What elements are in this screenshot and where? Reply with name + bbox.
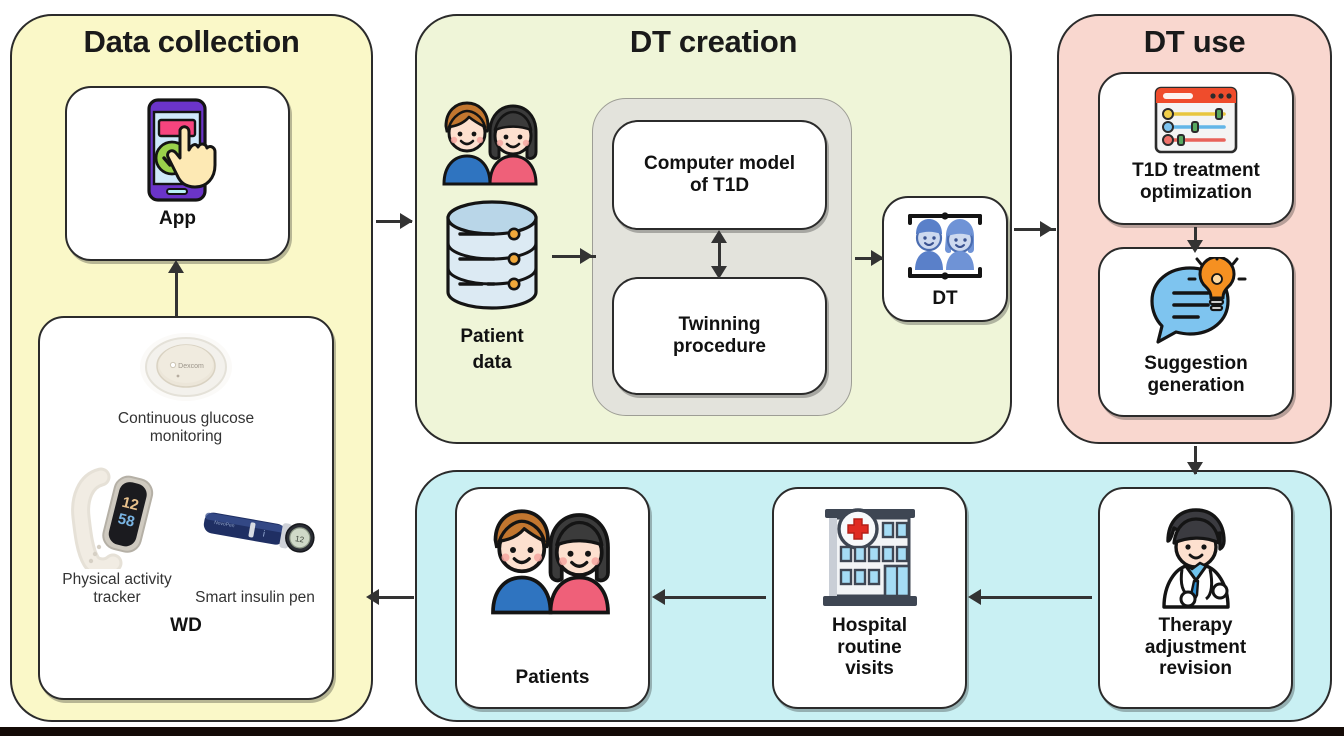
digital-twin-icon bbox=[896, 204, 994, 288]
patients-pair-icon bbox=[432, 96, 552, 188]
arrow-therapy-to-hospital-line bbox=[980, 596, 1092, 599]
bottom-rule bbox=[0, 727, 1344, 736]
card-app[interactable]: App bbox=[65, 86, 290, 261]
card-app-label: App bbox=[159, 208, 196, 230]
pen-group: 12 i NovoPen Smart insulin pen bbox=[189, 479, 321, 607]
insulin-pen-icon: 12 i NovoPen bbox=[193, 479, 317, 587]
arrow-wd-to-app-head bbox=[168, 260, 184, 273]
speech-bubble-lightbulb-icon bbox=[1144, 257, 1248, 349]
card-twinning-procedure[interactable]: Twinning procedure bbox=[612, 277, 827, 395]
arrow-patientdata-to-model-head bbox=[580, 248, 593, 264]
pen-label: Smart insulin pen bbox=[195, 589, 315, 607]
patient-data-label-line2: data bbox=[430, 352, 554, 374]
panel-title-dt-creation: DT creation bbox=[417, 24, 1010, 60]
database-icon bbox=[436, 196, 548, 314]
computer-model-line1: Computer model bbox=[644, 153, 795, 175]
hospital-building-icon bbox=[811, 503, 929, 613]
card-computer-model[interactable]: Computer model of T1D bbox=[612, 120, 827, 230]
cgm-label: Continuous glucose monitoring bbox=[84, 410, 289, 447]
cgm-group: Dexcom Continuous glucose monitoring bbox=[84, 328, 289, 447]
optimization-line1: T1D treatment bbox=[1132, 160, 1260, 182]
bidirectional-arrow-head-up bbox=[711, 230, 727, 243]
twinning-line2: procedure bbox=[673, 336, 766, 358]
cgm-sensor-icon: Dexcom bbox=[135, 328, 237, 406]
arrow-datacollection-to-creation-head bbox=[400, 213, 413, 229]
patients-pair-icon bbox=[478, 501, 628, 619]
therapy-line1: Therapy bbox=[1159, 615, 1233, 637]
hospital-line3: visits bbox=[845, 658, 894, 680]
arrow-hospital-to-patients-head bbox=[652, 589, 665, 605]
arrow-creation-to-use-head bbox=[1040, 221, 1053, 237]
arrow-hospital-to-patients-line bbox=[664, 596, 766, 599]
arrow-optimization-to-suggestion-head bbox=[1187, 240, 1203, 253]
wd-label: WD bbox=[170, 615, 202, 637]
arrow-feedback-to-datacollection-head bbox=[366, 589, 379, 605]
hospital-line2: routine bbox=[837, 637, 901, 659]
sliders-window-icon bbox=[1150, 82, 1242, 158]
panel-title-dt-use: DT use bbox=[1059, 24, 1330, 60]
patients-label: Patients bbox=[516, 667, 590, 689]
suggestion-line2: generation bbox=[1147, 375, 1244, 397]
card-suggestion-generation[interactable]: Suggestion generation bbox=[1098, 247, 1294, 417]
suggestion-line1: Suggestion bbox=[1144, 353, 1247, 375]
panel-title-data-collection: Data collection bbox=[12, 24, 371, 60]
patient-data-label-line1: Patient bbox=[430, 326, 554, 348]
card-digital-twin[interactable]: DT bbox=[882, 196, 1008, 322]
tracker-group: 12 58 Physical activity tracker bbox=[51, 461, 183, 608]
hospital-line1: Hospital bbox=[832, 615, 907, 637]
card-wearable-devices[interactable]: Dexcom Continuous glucose monitoring 12 bbox=[38, 316, 334, 700]
bidirectional-arrow-head-down bbox=[711, 266, 727, 279]
twinning-line1: Twinning bbox=[679, 314, 761, 336]
therapy-line3: revision bbox=[1159, 658, 1232, 680]
optimization-line2: optimization bbox=[1140, 182, 1252, 204]
arrow-feedback-to-datacollection-line bbox=[378, 596, 414, 599]
card-hospital-routine-visits[interactable]: Hospital routine visits bbox=[772, 487, 967, 709]
card-t1d-treatment-optimization[interactable]: T1D treatment optimization bbox=[1098, 72, 1294, 225]
arrow-therapy-to-hospital-head bbox=[968, 589, 981, 605]
arrow-model-to-dt-head bbox=[871, 250, 884, 266]
dt-label: DT bbox=[932, 288, 957, 310]
therapy-line2: adjustment bbox=[1145, 637, 1246, 659]
arrow-wd-to-app-line bbox=[175, 268, 178, 316]
fitness-band-icon: 12 58 bbox=[65, 461, 169, 569]
smartphone-tap-icon bbox=[119, 96, 237, 208]
svg-text:Dexcom: Dexcom bbox=[178, 363, 204, 370]
arrow-use-to-feedback-head bbox=[1187, 462, 1203, 475]
tracker-label: Physical activity tracker bbox=[51, 571, 183, 608]
card-patients[interactable]: Patients bbox=[455, 487, 650, 709]
card-therapy-adjustment-revision[interactable]: Therapy adjustment revision bbox=[1098, 487, 1293, 709]
diagram-canvas: Data collection App bbox=[0, 0, 1344, 736]
doctor-icon bbox=[1140, 503, 1252, 613]
computer-model-line2: of T1D bbox=[690, 175, 749, 197]
